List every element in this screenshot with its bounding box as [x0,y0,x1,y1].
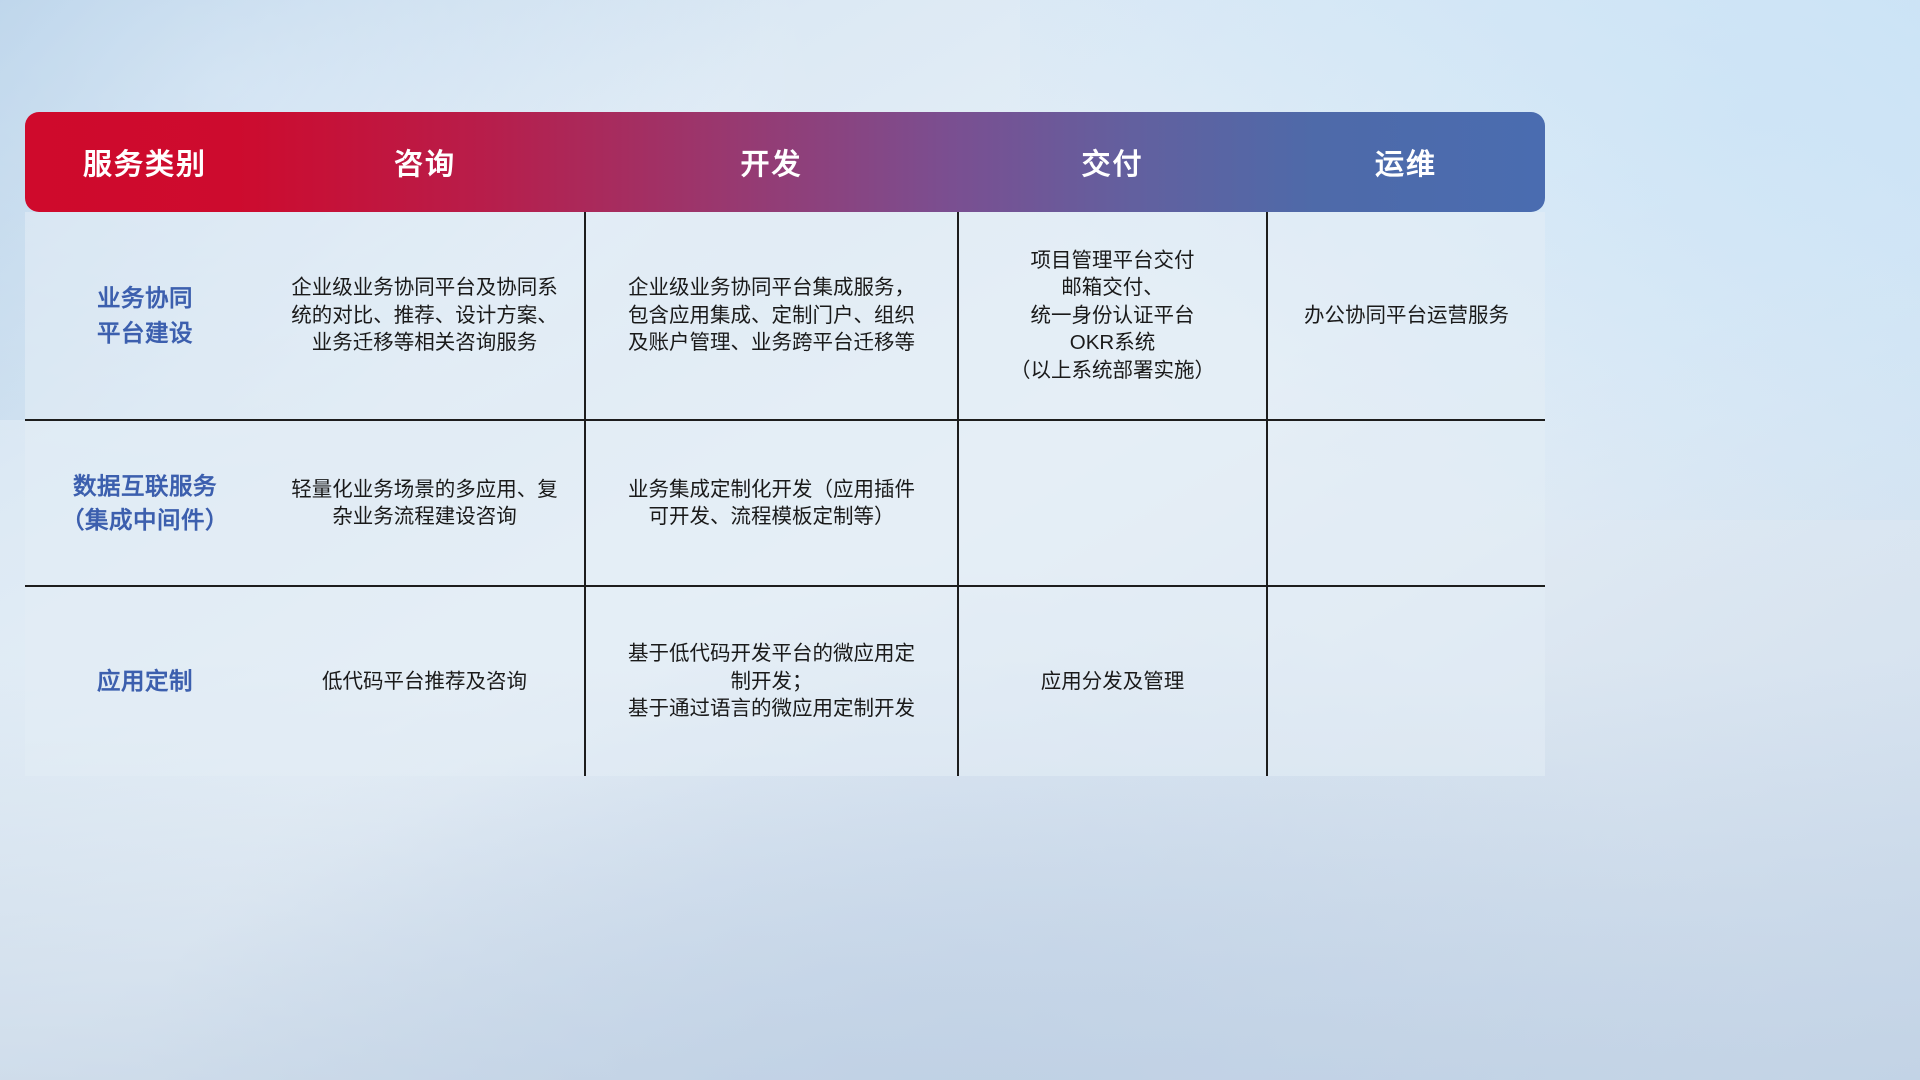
header-cell-operations: 运维 [1267,112,1545,212]
table-body: 业务协同 平台建设 企业级业务协同平台及协同系 统的对比、推荐、设计方案、 业务… [25,212,1545,776]
cell-delivery-row1: 项目管理平台交付 邮箱交付、 统一身份认证平台 OKR系统 （以上系统部署实施） [958,212,1267,420]
row-label-business-collaboration: 业务协同 平台建设 [25,212,265,420]
row-label-application-customization: 应用定制 [25,586,265,776]
cell-development-row2: 业务集成定制化开发（应用插件 可开发、流程模板定制等） [585,420,958,586]
cell-text-line: （以上系统部署实施） [973,357,1252,384]
header-cell-delivery: 交付 [958,112,1267,212]
cell-text-line: OKR系统 [973,329,1252,356]
header-label-delivery: 交付 [1081,149,1143,181]
cell-text-line: 基于低代码开发平台的微应用定 [600,640,943,667]
header-cell-consulting: 咨询 [265,112,585,212]
row-label-line: 平台建设 [39,316,251,350]
cell-text-line: 项目管理平台交付 [973,247,1252,274]
cell-operations-row3 [1267,586,1545,776]
header-label-development: 开发 [740,149,802,181]
table-header: 服务类别 咨询 开发 交付 运维 [25,112,1545,212]
table-row: 应用定制 低代码平台推荐及咨询 基于低代码开发平台的微应用定 制开发； 基于通过… [25,586,1545,776]
cell-text-line: 业务迁移等相关咨询服务 [279,329,570,356]
cell-text-line: 应用分发及管理 [973,668,1252,695]
cell-text-line: 基于通过语言的微应用定制开发 [600,695,943,722]
header-cell-service-category: 服务类别 [25,112,265,212]
cell-development-row3: 基于低代码开发平台的微应用定 制开发； 基于通过语言的微应用定制开发 [585,586,958,776]
cell-development-row1: 企业级业务协同平台集成服务， 包含应用集成、定制门户、组织 及账户管理、业务跨平… [585,212,958,420]
cell-text-line: 统一身份认证平台 [973,302,1252,329]
cell-text-line: 企业级业务协同平台及协同系 [279,274,570,301]
cell-text-line: 及账户管理、业务跨平台迁移等 [600,329,943,356]
cell-consulting-row1: 企业级业务协同平台及协同系 统的对比、推荐、设计方案、 业务迁移等相关咨询服务 [265,212,585,420]
cell-text-line: 企业级业务协同平台集成服务， [600,274,943,301]
cell-text-line: 可开发、流程模板定制等） [600,503,943,530]
cell-text-line: 制开发； [600,668,943,695]
cell-consulting-row3: 低代码平台推荐及咨询 [265,586,585,776]
header-cell-development: 开发 [585,112,958,212]
table-header-row: 服务类别 咨询 开发 交付 运维 [25,112,1545,212]
cell-delivery-row2 [958,420,1267,586]
row-label-data-integration: 数据互联服务 （集成中间件） [25,420,265,586]
cell-operations-row1: 办公协同平台运营服务 [1267,212,1545,420]
cell-text-line: 轻量化业务场景的多应用、复 [279,476,570,503]
row-label-line: 业务协同 [39,281,251,315]
cell-delivery-row3: 应用分发及管理 [958,586,1267,776]
row-label-line: （集成中间件） [39,503,251,537]
header-label-consulting: 咨询 [394,149,456,181]
row-label-line: 应用定制 [39,664,251,698]
table-row: 业务协同 平台建设 企业级业务协同平台及协同系 统的对比、推荐、设计方案、 业务… [25,212,1545,420]
service-table: 服务类别 咨询 开发 交付 运维 业务协同 [25,112,1545,776]
cell-text-line: 低代码平台推荐及咨询 [279,668,570,695]
cell-text-line: 业务集成定制化开发（应用插件 [600,476,943,503]
table-row: 数据互联服务 （集成中间件） 轻量化业务场景的多应用、复 杂业务流程建设咨询 业… [25,420,1545,586]
cell-text-line: 办公协同平台运营服务 [1282,302,1531,329]
header-label-operations: 运维 [1375,149,1437,181]
cell-text-line: 包含应用集成、定制门户、组织 [600,302,943,329]
cell-text-line: 邮箱交付、 [973,274,1252,301]
row-label-line: 数据互联服务 [39,469,251,503]
cell-text-line: 统的对比、推荐、设计方案、 [279,302,570,329]
header-label-service-category: 服务类别 [83,149,207,181]
service-matrix-table: 服务类别 咨询 开发 交付 运维 业务协同 [25,112,1545,776]
cell-text-line: 杂业务流程建设咨询 [279,503,570,530]
cell-operations-row2 [1267,420,1545,586]
cell-consulting-row2: 轻量化业务场景的多应用、复 杂业务流程建设咨询 [265,420,585,586]
